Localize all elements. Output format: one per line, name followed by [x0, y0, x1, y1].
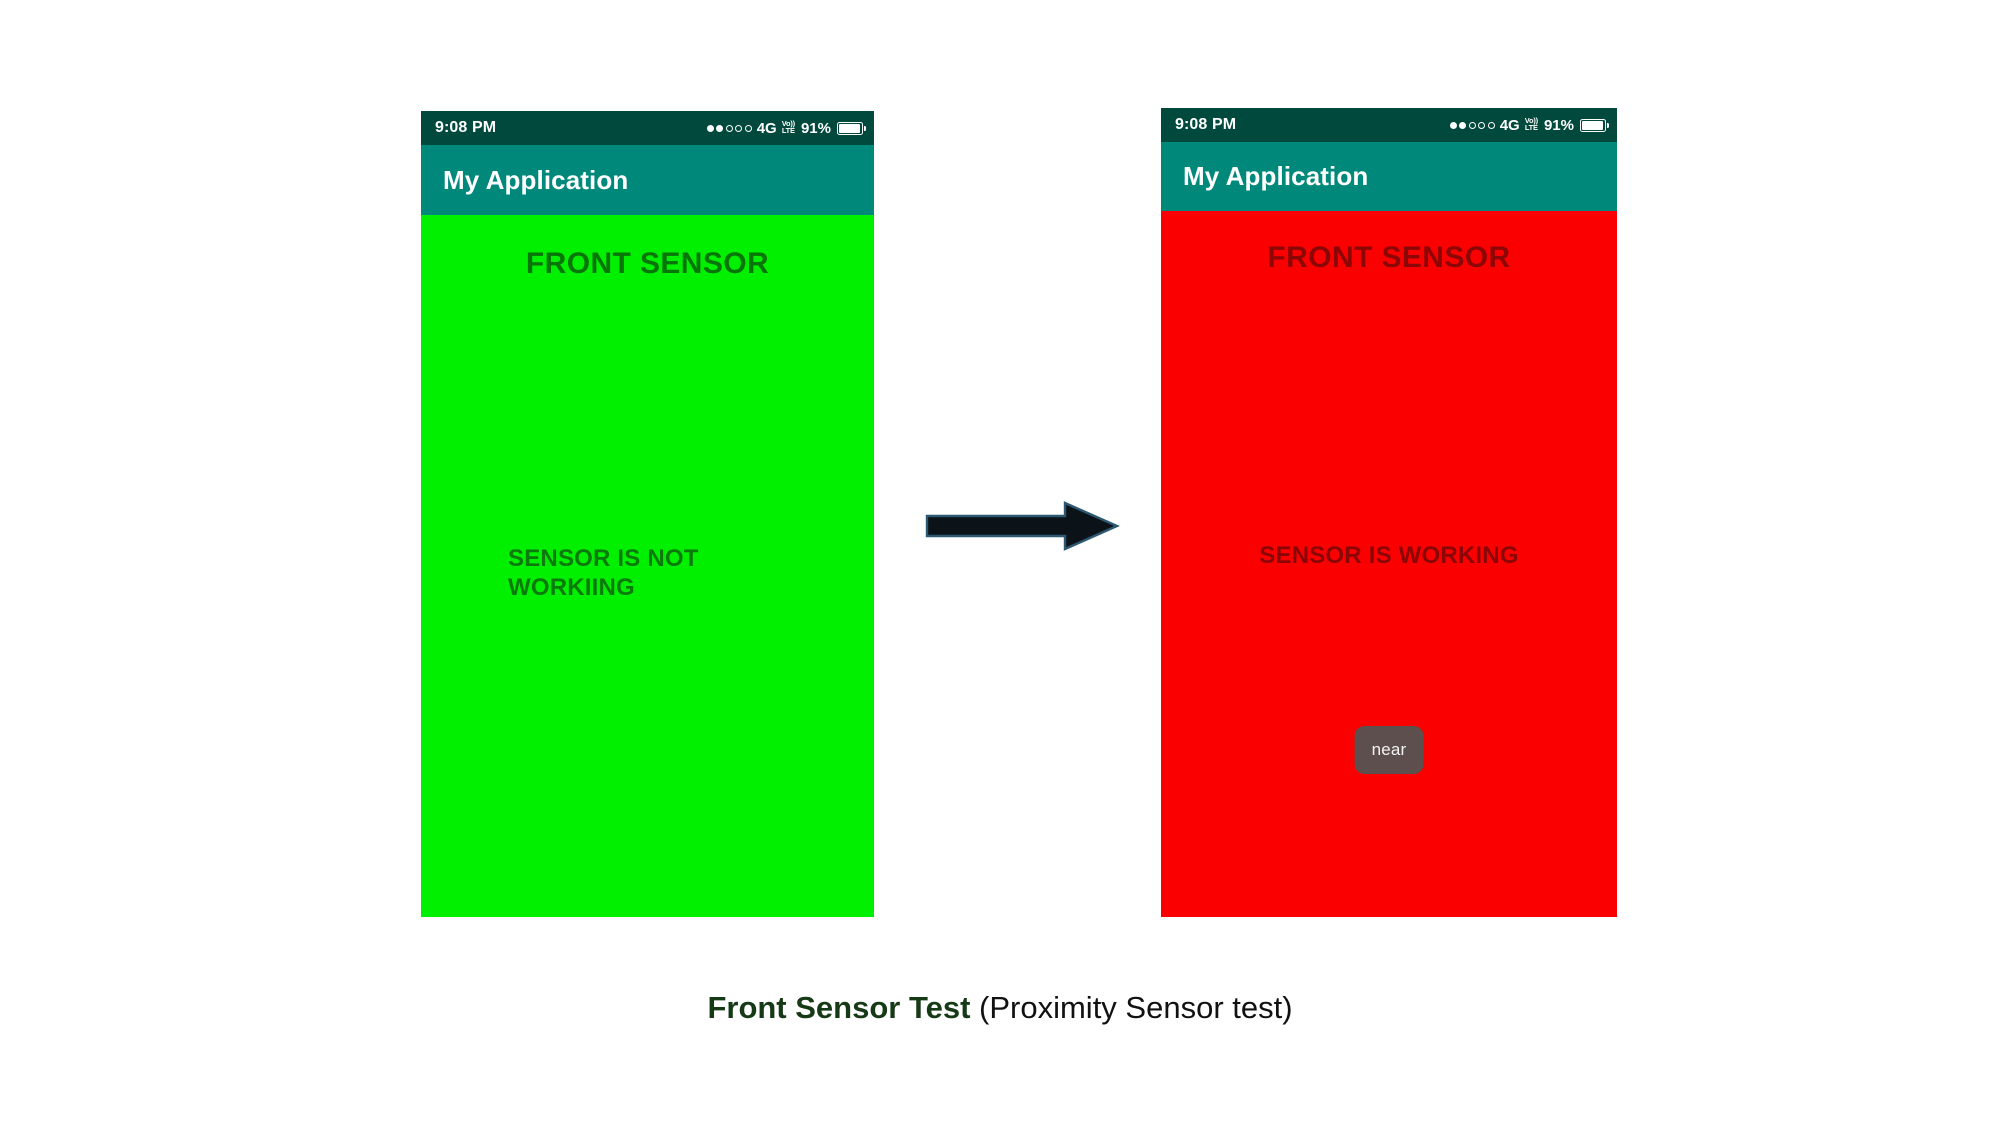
- status-bar: 9:08 PM 4G Vo)) LTE 91%: [421, 111, 874, 145]
- phone-screenshot-green: 9:08 PM 4G Vo)) LTE 91% My Application F…: [421, 111, 874, 917]
- app-bar-title: My Application: [1183, 161, 1368, 192]
- caption-subtitle: (Proximity Sensor test): [979, 990, 1293, 1025]
- status-bar-indicators: 4G Vo)) LTE 91%: [707, 121, 863, 136]
- network-type-label: 4G: [757, 121, 777, 136]
- sensor-status-message: SENSOR IS WORKING: [1161, 541, 1617, 570]
- toast-notification: near: [1355, 726, 1424, 774]
- signal-strength-icon: [707, 125, 752, 132]
- status-bar-time: 9:08 PM: [435, 120, 496, 136]
- sensor-heading: FRONT SENSOR: [421, 247, 874, 281]
- app-bar-title: My Application: [443, 165, 628, 196]
- status-bar-indicators: 4G Vo)) LTE 91%: [1450, 118, 1606, 133]
- battery-icon: [1580, 119, 1606, 132]
- battery-percent-label: 91%: [801, 121, 831, 136]
- sensor-heading: FRONT SENSOR: [1161, 241, 1617, 275]
- battery-percent-label: 91%: [1544, 118, 1574, 133]
- app-screen-body: FRONT SENSOR SENSOR IS WORKING near: [1161, 211, 1617, 917]
- app-screen-body: FRONT SENSOR SENSOR IS NOT WORKIING: [421, 215, 874, 917]
- volte-bottom-label: LTE: [782, 128, 795, 135]
- signal-strength-icon: [1450, 122, 1495, 129]
- flow-arrow-icon: [925, 500, 1120, 552]
- network-type-label: 4G: [1500, 118, 1520, 133]
- volte-icon: Vo)) LTE: [1525, 118, 1538, 132]
- figure-caption: Front Sensor Test (Proximity Sensor test…: [0, 990, 2000, 1026]
- volte-bottom-label: LTE: [1525, 125, 1538, 132]
- status-bar-time: 9:08 PM: [1175, 117, 1236, 133]
- battery-icon: [837, 122, 863, 135]
- app-bar: My Application: [1161, 142, 1617, 211]
- sensor-status-message: SENSOR IS NOT WORKIING: [508, 544, 758, 602]
- volte-icon: Vo)) LTE: [782, 121, 795, 135]
- app-bar: My Application: [421, 145, 874, 215]
- caption-title: Front Sensor Test: [707, 990, 970, 1025]
- phone-screenshot-red: 9:08 PM 4G Vo)) LTE 91% My Application F…: [1161, 108, 1617, 917]
- status-bar: 9:08 PM 4G Vo)) LTE 91%: [1161, 108, 1617, 142]
